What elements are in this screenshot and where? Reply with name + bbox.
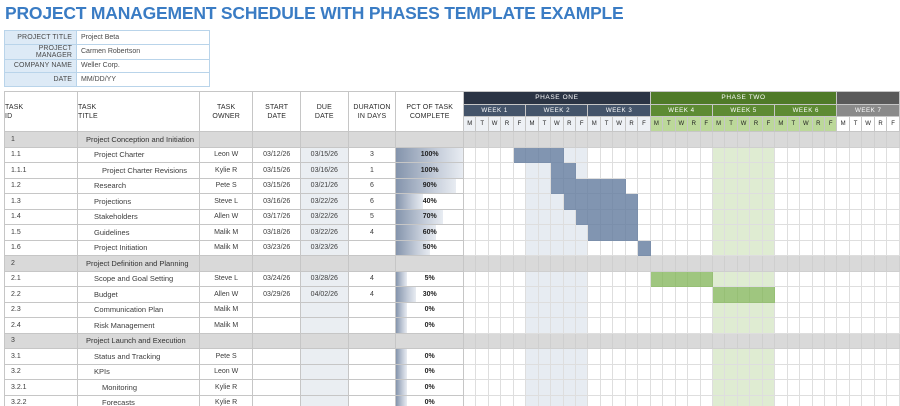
gantt-day-cell[interactable] — [576, 333, 588, 349]
gantt-day-cell[interactable] — [775, 380, 787, 396]
gantt-day-cell[interactable] — [600, 302, 612, 318]
gantt-day-cell[interactable] — [464, 163, 476, 179]
task-due-date-cell[interactable] — [301, 256, 349, 272]
gantt-day-cell[interactable] — [837, 240, 849, 256]
gantt-day-cell[interactable] — [488, 178, 500, 194]
gantt-day-cell[interactable] — [737, 380, 749, 396]
gantt-day-cell[interactable] — [725, 178, 737, 194]
task-duration-cell[interactable]: 4 — [348, 271, 396, 287]
task-owner-cell[interactable]: Kylie R — [199, 395, 253, 406]
gantt-day-cell[interactable] — [700, 287, 712, 303]
gantt-day-cell[interactable] — [600, 147, 612, 163]
gantt-day-cell[interactable] — [551, 256, 563, 272]
gantt-day-cell[interactable] — [650, 256, 662, 272]
gantt-day-cell[interactable] — [849, 240, 861, 256]
gantt-day-cell[interactable] — [600, 256, 612, 272]
gantt-day-cell[interactable] — [787, 364, 799, 380]
gantt-day-cell[interactable] — [613, 349, 625, 365]
gantt-bar-cell[interactable] — [613, 194, 625, 210]
gantt-day-cell[interactable] — [874, 256, 886, 272]
gantt-day-cell[interactable] — [675, 240, 687, 256]
gantt-day-cell[interactable] — [712, 349, 724, 365]
task-row[interactable]: 1.1.1Project Charter RevisionsKylie R03/… — [5, 163, 900, 179]
gantt-day-cell[interactable] — [501, 240, 513, 256]
gantt-bar-cell[interactable] — [750, 287, 762, 303]
gantt-day-cell[interactable] — [650, 194, 662, 210]
gantt-day-cell[interactable] — [576, 240, 588, 256]
gantt-day-cell[interactable] — [837, 271, 849, 287]
gantt-bar-cell[interactable] — [600, 225, 612, 241]
gantt-day-cell[interactable] — [712, 256, 724, 272]
gantt-day-cell[interactable] — [862, 132, 874, 148]
gantt-day-cell[interactable] — [576, 287, 588, 303]
gantt-day-cell[interactable] — [750, 395, 762, 406]
gantt-day-cell[interactable] — [526, 287, 538, 303]
task-start-date-cell[interactable]: 03/23/26 — [253, 240, 301, 256]
task-pct-complete-cell[interactable]: 90% — [396, 178, 464, 194]
gantt-day-cell[interactable] — [488, 147, 500, 163]
task-pct-complete-cell[interactable]: 70% — [396, 209, 464, 225]
task-duration-cell[interactable] — [348, 302, 396, 318]
gantt-day-cell[interactable] — [775, 147, 787, 163]
gantt-day-cell[interactable] — [625, 287, 637, 303]
task-owner-cell[interactable]: Malik M — [199, 318, 253, 334]
gantt-day-cell[interactable] — [588, 302, 600, 318]
gantt-day-cell[interactable] — [775, 349, 787, 365]
task-duration-cell[interactable] — [348, 380, 396, 396]
gantt-day-cell[interactable] — [563, 349, 575, 365]
gantt-day-cell[interactable] — [775, 178, 787, 194]
task-duration-cell[interactable] — [348, 132, 396, 148]
task-title-cell[interactable]: Project Initiation — [78, 240, 200, 256]
gantt-day-cell[interactable] — [787, 240, 799, 256]
gantt-day-cell[interactable] — [688, 333, 700, 349]
gantt-day-cell[interactable] — [563, 333, 575, 349]
gantt-day-cell[interactable] — [887, 271, 900, 287]
gantt-day-cell[interactable] — [750, 178, 762, 194]
gantt-day-cell[interactable] — [762, 178, 774, 194]
gantt-day-cell[interactable] — [638, 225, 650, 241]
gantt-day-cell[interactable] — [737, 256, 749, 272]
gantt-day-cell[interactable] — [464, 333, 476, 349]
gantt-day-cell[interactable] — [762, 364, 774, 380]
gantt-day-cell[interactable] — [712, 364, 724, 380]
gantt-day-cell[interactable] — [812, 225, 824, 241]
gantt-day-cell[interactable] — [625, 395, 637, 406]
gantt-day-cell[interactable] — [700, 194, 712, 210]
gantt-day-cell[interactable] — [862, 380, 874, 396]
gantt-day-cell[interactable] — [476, 178, 488, 194]
gantt-bar-cell[interactable] — [588, 209, 600, 225]
gantt-day-cell[interactable] — [501, 225, 513, 241]
gantt-day-cell[interactable] — [501, 287, 513, 303]
task-duration-cell[interactable]: 3 — [348, 147, 396, 163]
gantt-day-cell[interactable] — [650, 380, 662, 396]
gantt-day-cell[interactable] — [800, 256, 812, 272]
gantt-day-cell[interactable] — [675, 349, 687, 365]
gantt-day-cell[interactable] — [849, 163, 861, 179]
gantt-day-cell[interactable] — [737, 395, 749, 406]
gantt-day-cell[interactable] — [812, 302, 824, 318]
gantt-day-cell[interactable] — [824, 163, 836, 179]
gantt-day-cell[interactable] — [675, 287, 687, 303]
gantt-day-cell[interactable] — [812, 287, 824, 303]
task-duration-cell[interactable] — [348, 364, 396, 380]
gantt-day-cell[interactable] — [600, 163, 612, 179]
gantt-day-cell[interactable] — [874, 132, 886, 148]
gantt-day-cell[interactable] — [464, 302, 476, 318]
gantt-day-cell[interactable] — [513, 240, 525, 256]
task-owner-cell[interactable]: Pete S — [199, 349, 253, 365]
gantt-bar-cell[interactable] — [600, 194, 612, 210]
gantt-day-cell[interactable] — [800, 364, 812, 380]
task-owner-cell[interactable]: Leon W — [199, 147, 253, 163]
gantt-day-cell[interactable] — [700, 163, 712, 179]
gantt-day-cell[interactable] — [849, 178, 861, 194]
gantt-day-cell[interactable] — [750, 333, 762, 349]
gantt-day-cell[interactable] — [688, 256, 700, 272]
gantt-day-cell[interactable] — [600, 132, 612, 148]
task-start-date-cell[interactable] — [253, 256, 301, 272]
gantt-day-cell[interactable] — [551, 287, 563, 303]
gantt-day-cell[interactable] — [812, 147, 824, 163]
task-title-cell[interactable]: Communication Plan — [78, 302, 200, 318]
gantt-day-cell[interactable] — [625, 256, 637, 272]
task-start-date-cell[interactable] — [253, 395, 301, 406]
task-duration-cell[interactable]: 4 — [348, 225, 396, 241]
task-pct-complete-cell[interactable]: 30% — [396, 287, 464, 303]
task-id-cell[interactable]: 1.6 — [5, 240, 78, 256]
task-start-date-cell[interactable]: 03/15/26 — [253, 163, 301, 179]
task-title-cell[interactable]: Stakeholders — [78, 209, 200, 225]
gantt-day-cell[interactable] — [688, 287, 700, 303]
gantt-day-cell[interactable] — [737, 318, 749, 334]
gantt-day-cell[interactable] — [837, 395, 849, 406]
gantt-day-cell[interactable] — [650, 302, 662, 318]
gantt-day-cell[interactable] — [775, 271, 787, 287]
gantt-day-cell[interactable] — [501, 364, 513, 380]
gantt-day-cell[interactable] — [650, 240, 662, 256]
gantt-day-cell[interactable] — [663, 287, 675, 303]
gantt-day-cell[interactable] — [824, 380, 836, 396]
gantt-day-cell[interactable] — [625, 163, 637, 179]
gantt-day-cell[interactable] — [874, 380, 886, 396]
task-owner-cell[interactable] — [199, 132, 253, 148]
gantt-day-cell[interactable] — [862, 225, 874, 241]
gantt-day-cell[interactable] — [887, 225, 900, 241]
gantt-day-cell[interactable] — [526, 349, 538, 365]
gantt-bar-cell[interactable] — [513, 147, 525, 163]
gantt-day-cell[interactable] — [762, 147, 774, 163]
gantt-bar-cell[interactable] — [563, 178, 575, 194]
gantt-day-cell[interactable] — [663, 380, 675, 396]
gantt-day-cell[interactable] — [576, 163, 588, 179]
gantt-bar-cell[interactable] — [600, 178, 612, 194]
task-owner-cell[interactable]: Steve L — [199, 271, 253, 287]
gantt-day-cell[interactable] — [725, 209, 737, 225]
gantt-day-cell[interactable] — [501, 302, 513, 318]
gantt-day-cell[interactable] — [737, 302, 749, 318]
gantt-day-cell[interactable] — [775, 395, 787, 406]
gantt-day-cell[interactable] — [663, 349, 675, 365]
gantt-day-cell[interactable] — [800, 380, 812, 396]
gantt-day-cell[interactable] — [725, 240, 737, 256]
gantt-day-cell[interactable] — [613, 132, 625, 148]
gantt-day-cell[interactable] — [824, 271, 836, 287]
gantt-day-cell[interactable] — [476, 225, 488, 241]
gantt-day-cell[interactable] — [712, 395, 724, 406]
gantt-day-cell[interactable] — [737, 132, 749, 148]
gantt-day-cell[interactable] — [538, 194, 550, 210]
gantt-day-cell[interactable] — [787, 194, 799, 210]
section-row[interactable]: 3Project Launch and Execution — [5, 333, 900, 349]
gantt-day-cell[interactable] — [725, 147, 737, 163]
gantt-day-cell[interactable] — [464, 395, 476, 406]
gantt-day-cell[interactable] — [513, 380, 525, 396]
gantt-day-cell[interactable] — [576, 395, 588, 406]
gantt-bar-cell[interactable] — [650, 271, 662, 287]
gantt-day-cell[interactable] — [526, 132, 538, 148]
gantt-day-cell[interactable] — [849, 380, 861, 396]
gantt-day-cell[interactable] — [787, 225, 799, 241]
gantt-day-cell[interactable] — [613, 318, 625, 334]
gantt-day-cell[interactable] — [700, 178, 712, 194]
gantt-day-cell[interactable] — [837, 209, 849, 225]
gantt-day-cell[interactable] — [501, 395, 513, 406]
gantt-day-cell[interactable] — [750, 209, 762, 225]
gantt-day-cell[interactable] — [800, 194, 812, 210]
task-title-cell[interactable]: Status and Tracking — [78, 349, 200, 365]
task-duration-cell[interactable] — [348, 333, 396, 349]
task-due-date-cell[interactable]: 04/02/26 — [301, 287, 349, 303]
gantt-day-cell[interactable] — [513, 318, 525, 334]
gantt-bar-cell[interactable] — [551, 178, 563, 194]
gantt-day-cell[interactable] — [613, 302, 625, 318]
gantt-day-cell[interactable] — [464, 271, 476, 287]
gantt-day-cell[interactable] — [887, 287, 900, 303]
task-row[interactable]: 1.6Project InitiationMalik M03/23/2603/2… — [5, 240, 900, 256]
gantt-day-cell[interactable] — [663, 302, 675, 318]
gantt-day-cell[interactable] — [588, 287, 600, 303]
task-row[interactable]: 3.2.1MonitoringKylie R0% — [5, 380, 900, 396]
gantt-day-cell[interactable] — [538, 225, 550, 241]
gantt-day-cell[interactable] — [887, 364, 900, 380]
gantt-day-cell[interactable] — [513, 271, 525, 287]
gantt-day-cell[interactable] — [775, 194, 787, 210]
gantt-day-cell[interactable] — [700, 318, 712, 334]
gantt-day-cell[interactable] — [787, 271, 799, 287]
task-duration-cell[interactable]: 6 — [348, 178, 396, 194]
gantt-day-cell[interactable] — [600, 380, 612, 396]
task-id-cell[interactable]: 2.2 — [5, 287, 78, 303]
gantt-day-cell[interactable] — [576, 302, 588, 318]
task-due-date-cell[interactable] — [301, 302, 349, 318]
gantt-day-cell[interactable] — [563, 271, 575, 287]
gantt-day-cell[interactable] — [488, 318, 500, 334]
gantt-day-cell[interactable] — [650, 287, 662, 303]
task-id-cell[interactable]: 1.1.1 — [5, 163, 78, 179]
task-duration-cell[interactable] — [348, 240, 396, 256]
gantt-day-cell[interactable] — [824, 364, 836, 380]
gantt-day-cell[interactable] — [663, 364, 675, 380]
task-id-cell[interactable]: 3.1 — [5, 349, 78, 365]
gantt-day-cell[interactable] — [563, 380, 575, 396]
gantt-day-cell[interactable] — [762, 318, 774, 334]
gantt-day-cell[interactable] — [874, 364, 886, 380]
gantt-day-cell[interactable] — [874, 194, 886, 210]
section-row[interactable]: 2Project Definition and Planning — [5, 256, 900, 272]
gantt-day-cell[interactable] — [576, 271, 588, 287]
gantt-day-cell[interactable] — [737, 147, 749, 163]
task-pct-complete-cell[interactable]: 0% — [396, 380, 464, 396]
gantt-bar-cell[interactable] — [576, 178, 588, 194]
gantt-day-cell[interactable] — [874, 302, 886, 318]
gantt-day-cell[interactable] — [563, 395, 575, 406]
task-due-date-cell[interactable]: 03/22/26 — [301, 209, 349, 225]
gantt-day-cell[interactable] — [775, 256, 787, 272]
gantt-day-cell[interactable] — [488, 349, 500, 365]
gantt-day-cell[interactable] — [862, 209, 874, 225]
gantt-day-cell[interactable] — [762, 209, 774, 225]
gantt-day-cell[interactable] — [551, 380, 563, 396]
gantt-day-cell[interactable] — [824, 349, 836, 365]
task-title-cell[interactable]: Project Charter Revisions — [78, 163, 200, 179]
gantt-day-cell[interactable] — [488, 287, 500, 303]
gantt-bar-cell[interactable] — [563, 194, 575, 210]
task-duration-cell[interactable] — [348, 318, 396, 334]
gantt-day-cell[interactable] — [675, 302, 687, 318]
gantt-day-cell[interactable] — [712, 209, 724, 225]
gantt-day-cell[interactable] — [638, 147, 650, 163]
gantt-day-cell[interactable] — [787, 333, 799, 349]
gantt-day-cell[interactable] — [874, 318, 886, 334]
gantt-day-cell[interactable] — [650, 225, 662, 241]
gantt-bar-cell[interactable] — [600, 209, 612, 225]
task-owner-cell[interactable]: Kylie R — [199, 163, 253, 179]
gantt-day-cell[interactable] — [800, 318, 812, 334]
gantt-day-cell[interactable] — [887, 380, 900, 396]
gantt-day-cell[interactable] — [663, 318, 675, 334]
gantt-day-cell[interactable] — [538, 349, 550, 365]
gantt-day-cell[interactable] — [625, 302, 637, 318]
gantt-day-cell[interactable] — [787, 349, 799, 365]
task-duration-cell[interactable]: 1 — [348, 163, 396, 179]
gantt-day-cell[interactable] — [849, 287, 861, 303]
gantt-day-cell[interactable] — [613, 240, 625, 256]
gantt-day-cell[interactable] — [874, 287, 886, 303]
task-pct-complete-cell[interactable] — [396, 132, 464, 148]
gantt-day-cell[interactable] — [837, 318, 849, 334]
task-id-cell[interactable]: 1.1 — [5, 147, 78, 163]
gantt-day-cell[interactable] — [812, 395, 824, 406]
gantt-day-cell[interactable] — [538, 209, 550, 225]
task-owner-cell[interactable]: Allen W — [199, 287, 253, 303]
gantt-day-cell[interactable] — [737, 333, 749, 349]
task-due-date-cell[interactable]: 03/16/26 — [301, 163, 349, 179]
gantt-day-cell[interactable] — [476, 147, 488, 163]
gantt-day-cell[interactable] — [712, 194, 724, 210]
gantt-bar-cell[interactable] — [588, 225, 600, 241]
gantt-bar-cell[interactable] — [613, 209, 625, 225]
task-owner-cell[interactable] — [199, 256, 253, 272]
gantt-day-cell[interactable] — [775, 318, 787, 334]
gantt-day-cell[interactable] — [663, 132, 675, 148]
gantt-day-cell[interactable] — [812, 194, 824, 210]
task-owner-cell[interactable]: Kylie R — [199, 380, 253, 396]
task-start-date-cell[interactable]: 03/18/26 — [253, 225, 301, 241]
gantt-day-cell[interactable] — [513, 333, 525, 349]
gantt-day-cell[interactable] — [837, 194, 849, 210]
gantt-day-cell[interactable] — [725, 132, 737, 148]
gantt-day-cell[interactable] — [563, 302, 575, 318]
gantt-day-cell[interactable] — [775, 364, 787, 380]
gantt-day-cell[interactable] — [501, 132, 513, 148]
gantt-day-cell[interactable] — [476, 380, 488, 396]
task-duration-cell[interactable] — [348, 349, 396, 365]
project-info-value[interactable]: Carmen Robertson — [77, 44, 210, 59]
gantt-day-cell[interactable] — [837, 256, 849, 272]
gantt-bar-cell[interactable] — [538, 147, 550, 163]
gantt-day-cell[interactable] — [675, 256, 687, 272]
task-due-date-cell[interactable]: 03/23/26 — [301, 240, 349, 256]
gantt-day-cell[interactable] — [824, 132, 836, 148]
task-row[interactable]: 2.4Risk ManagementMalik M0% — [5, 318, 900, 334]
task-start-date-cell[interactable] — [253, 132, 301, 148]
gantt-day-cell[interactable] — [824, 302, 836, 318]
gantt-day-cell[interactable] — [887, 333, 900, 349]
gantt-day-cell[interactable] — [526, 256, 538, 272]
gantt-day-cell[interactable] — [737, 209, 749, 225]
gantt-day-cell[interactable] — [576, 132, 588, 148]
gantt-day-cell[interactable] — [600, 318, 612, 334]
gantt-day-cell[interactable] — [563, 364, 575, 380]
gantt-day-cell[interactable] — [501, 147, 513, 163]
task-title-cell[interactable]: Project Charter — [78, 147, 200, 163]
gantt-bar-cell[interactable] — [576, 194, 588, 210]
gantt-day-cell[interactable] — [563, 287, 575, 303]
task-start-date-cell[interactable]: 03/16/26 — [253, 194, 301, 210]
task-pct-complete-cell[interactable]: 0% — [396, 395, 464, 406]
gantt-day-cell[interactable] — [700, 225, 712, 241]
gantt-day-cell[interactable] — [824, 209, 836, 225]
gantt-day-cell[interactable] — [862, 256, 874, 272]
gantt-day-cell[interactable] — [538, 333, 550, 349]
gantt-bar-cell[interactable] — [563, 163, 575, 179]
gantt-day-cell[interactable] — [775, 132, 787, 148]
gantt-day-cell[interactable] — [837, 178, 849, 194]
task-owner-cell[interactable]: Malik M — [199, 225, 253, 241]
gantt-bar-cell[interactable] — [526, 147, 538, 163]
gantt-day-cell[interactable] — [688, 302, 700, 318]
gantt-day-cell[interactable] — [775, 225, 787, 241]
gantt-day-cell[interactable] — [638, 287, 650, 303]
gantt-day-cell[interactable] — [488, 194, 500, 210]
gantt-day-cell[interactable] — [712, 333, 724, 349]
gantt-day-cell[interactable] — [824, 395, 836, 406]
gantt-day-cell[interactable] — [688, 178, 700, 194]
task-title-cell[interactable]: Guidelines — [78, 225, 200, 241]
gantt-bar-cell[interactable] — [551, 163, 563, 179]
gantt-day-cell[interactable] — [700, 333, 712, 349]
task-due-date-cell[interactable] — [301, 349, 349, 365]
gantt-day-cell[interactable] — [488, 364, 500, 380]
task-pct-complete-cell[interactable]: 0% — [396, 318, 464, 334]
gantt-day-cell[interactable] — [862, 194, 874, 210]
gantt-day-cell[interactable] — [675, 225, 687, 241]
task-start-date-cell[interactable]: 03/29/26 — [253, 287, 301, 303]
gantt-day-cell[interactable] — [725, 318, 737, 334]
gantt-day-cell[interactable] — [675, 194, 687, 210]
